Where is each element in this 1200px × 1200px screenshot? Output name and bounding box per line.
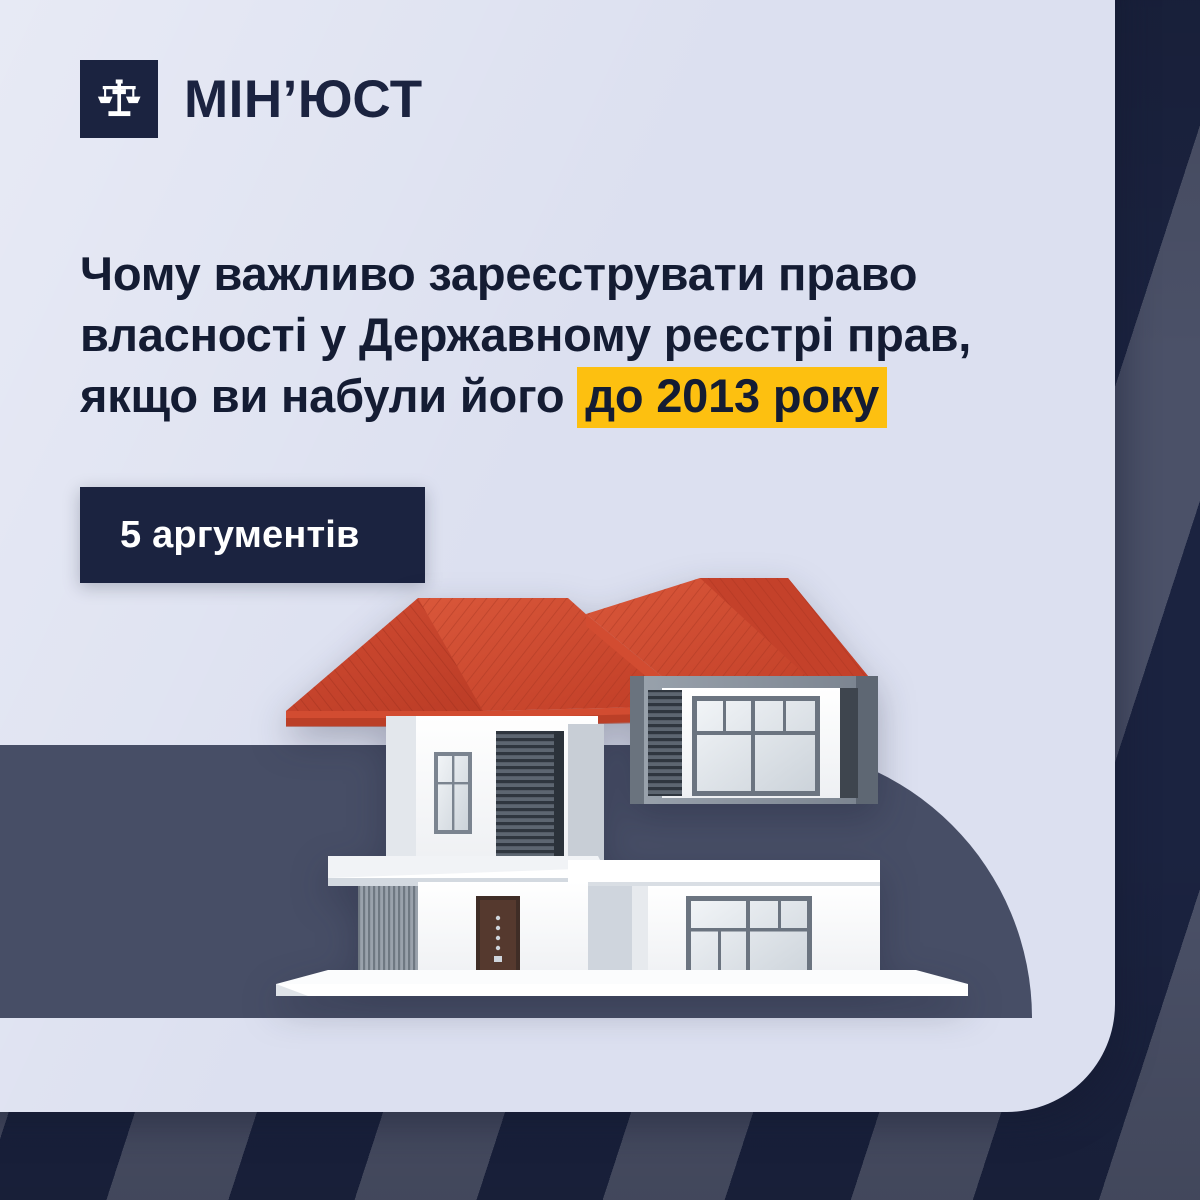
- upper-right-window: [692, 696, 820, 796]
- balcony-slab-right: [568, 860, 880, 882]
- brand-logo[interactable]: МІН’ЮСТ: [80, 60, 423, 138]
- headline-line-1: Чому важливо зареєструвати право: [80, 243, 1080, 304]
- headline-line-3-prefix: якщо ви набули його: [80, 369, 577, 422]
- headline-line-2: власності у Державному реєстрі прав,: [80, 304, 1080, 365]
- headline-highlight: до 2013 року: [577, 367, 887, 428]
- status-badge-label: 5 аргументів: [120, 514, 360, 557]
- headline-line-3: якщо ви набули його до 2013 року: [80, 365, 1080, 426]
- poster-canvas: МІН’ЮСТ Чому важливо зареєструвати право…: [0, 0, 1200, 1200]
- house-base-platform: [276, 970, 968, 996]
- house-illustration: [268, 556, 968, 996]
- scales-of-justice-icon: [80, 60, 158, 138]
- upper-white-block: [386, 716, 598, 864]
- ground-ribbed-pillar: [358, 886, 420, 984]
- page-title: Чому важливо зареєструвати право власнос…: [80, 243, 1080, 426]
- upper-left-window: [434, 752, 472, 834]
- upper-louvre-right: [648, 690, 682, 796]
- brand-wordmark: МІН’ЮСТ: [184, 73, 423, 126]
